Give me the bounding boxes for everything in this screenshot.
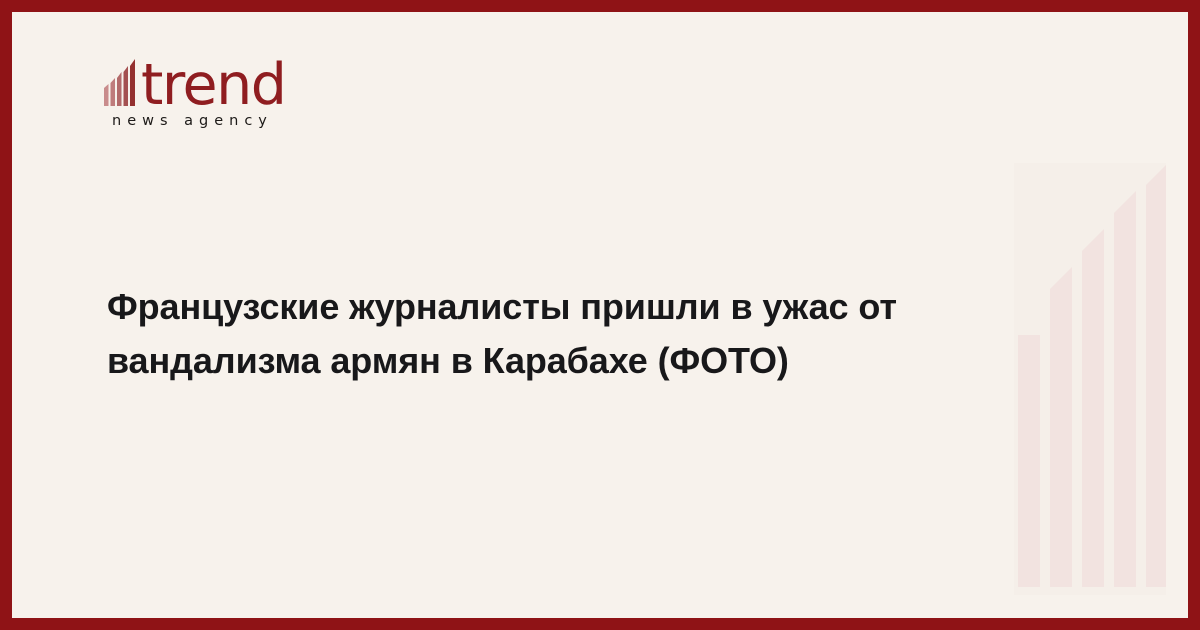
trend-ascending-bars-mark-icon bbox=[104, 58, 140, 106]
page-title: Французские журналисты пришли в ужас от … bbox=[107, 280, 987, 388]
ascending-bars-watermark bbox=[1014, 163, 1166, 595]
headline-line-2: вандализма армян в Карабахе (ФОТО) bbox=[107, 334, 987, 388]
brand-logo[interactable]: trend news agency bbox=[104, 54, 434, 129]
logo-wordmark: trend bbox=[141, 60, 285, 110]
logo-row: trend bbox=[104, 54, 434, 106]
share-card: trend news agency Французские журналисты… bbox=[0, 0, 1200, 630]
headline-line-1: Французские журналисты пришли в ужас от bbox=[107, 280, 987, 334]
